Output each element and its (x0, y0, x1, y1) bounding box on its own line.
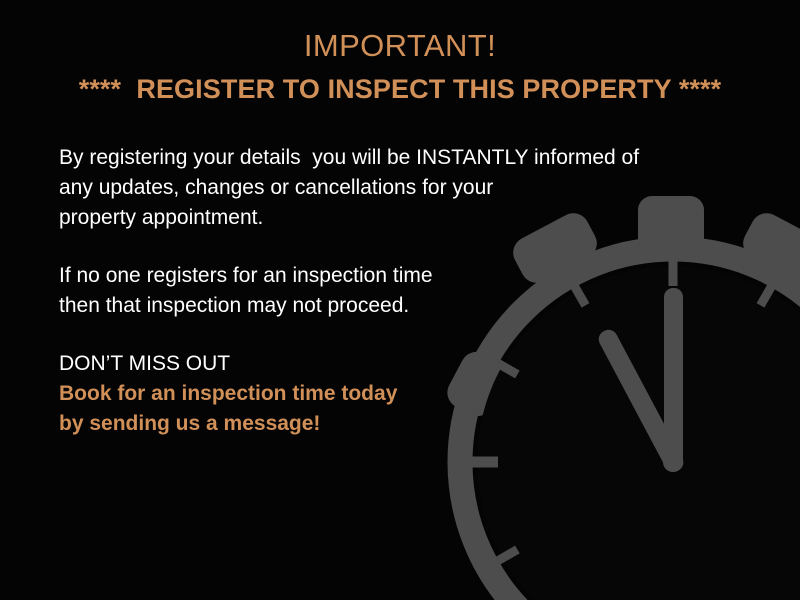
send-message-line: by sending us a message! (59, 409, 719, 439)
heading-important: IMPORTANT! (0, 26, 800, 66)
dont-miss-out-label: DON’T MISS OUT (59, 349, 719, 379)
paragraph1-line1: By registering your details you will be … (59, 143, 719, 173)
book-inspection-line: Book for an inspection time today (59, 379, 719, 409)
paragraph2-line2: then that inspection may not proceed. (59, 291, 719, 321)
paragraph1-line2: any updates, changes or cancellations fo… (59, 173, 719, 203)
body-copy: By registering your details you will be … (59, 143, 719, 439)
paragraph-call-to-action: DON’T MISS OUT Book for an inspection ti… (59, 349, 719, 439)
paragraph2-line1: If no one registers for an inspection ti… (59, 261, 719, 291)
paragraph1-line3: property appointment. (59, 203, 719, 233)
heading-register-to-inspect: **** REGISTER TO INSPECT THIS PROPERTY *… (0, 69, 800, 109)
paragraph-no-one-registers: If no one registers for an inspection ti… (59, 261, 719, 321)
heading-block: IMPORTANT! **** REGISTER TO INSPECT THIS… (0, 26, 800, 109)
paragraph-registering-details: By registering your details you will be … (59, 143, 719, 233)
slide-canvas: IMPORTANT! **** REGISTER TO INSPECT THIS… (0, 0, 800, 600)
clock-center-hub (663, 452, 683, 472)
